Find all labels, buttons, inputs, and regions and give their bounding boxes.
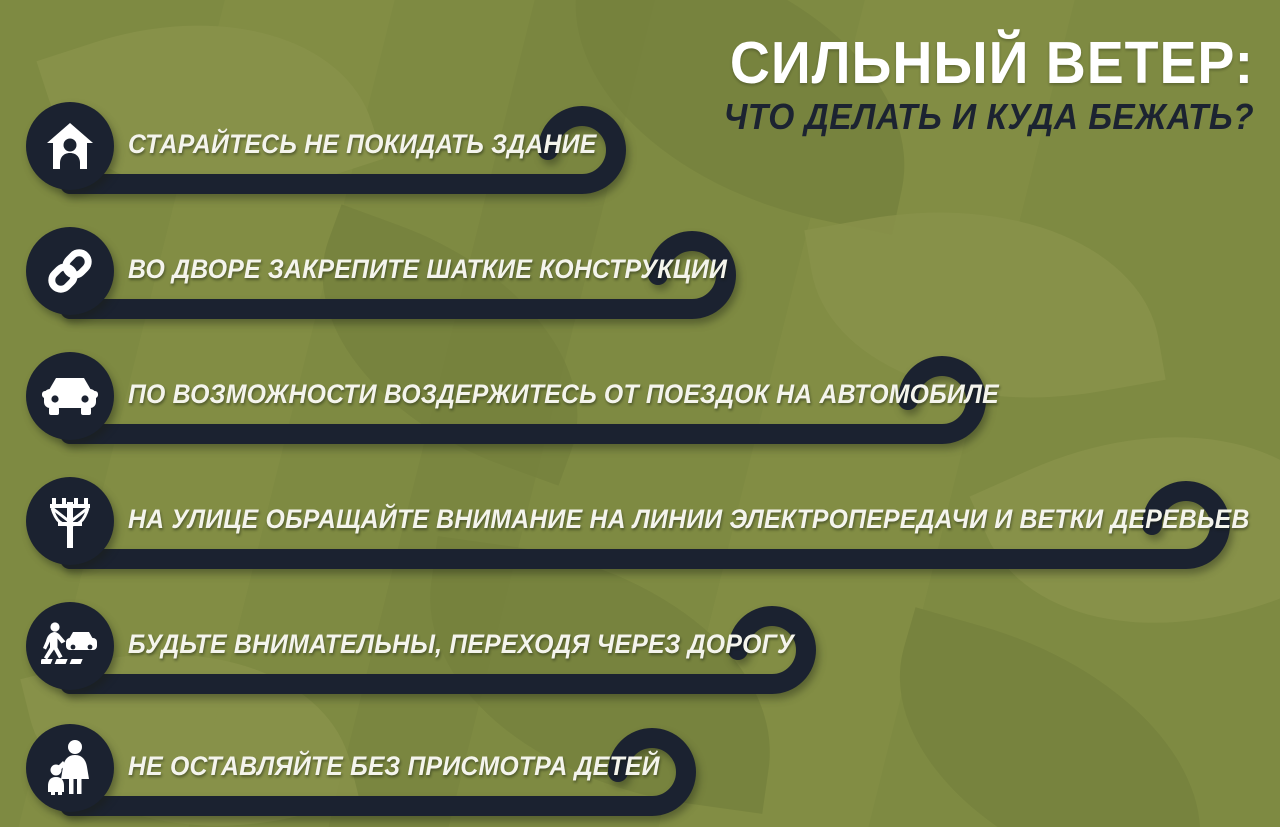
- icon-badge: [26, 602, 114, 690]
- list-item: НЕ ОСТАВЛЯЙТЕ БЕЗ ПРИСМОТРА ДЕТЕЙ: [26, 722, 746, 826]
- icon-badge: [26, 724, 114, 812]
- advice-list: СТАРАЙТЕСЬ НЕ ПОКИДАТЬ ЗДАНИЕ ВО ДВОРЕ З…: [0, 0, 1280, 827]
- list-item: БУДЬТЕ ВНИМАТЕЛЬНЫ, ПЕРЕХОДЯ ЧЕРЕЗ ДОРОГ…: [26, 600, 866, 704]
- car-front-icon: [42, 374, 98, 418]
- icon-badge: [26, 227, 114, 315]
- icon-badge: [26, 352, 114, 440]
- list-item: НА УЛИЦЕ ОБРАЩАЙТЕ ВНИМАНИЕ НА ЛИНИИ ЭЛЕ…: [26, 475, 1266, 579]
- list-item-label: НЕ ОСТАВЛЯЙТЕ БЕЗ ПРИСМОТРА ДЕТЕЙ: [128, 740, 660, 792]
- adult-child-icon: [45, 739, 95, 797]
- house-person-icon: [43, 119, 97, 173]
- list-item-label: ПО ВОЗМОЖНОСТИ ВОЗДЕРЖИТЕСЬ ОТ ПОЕЗДОК Н…: [128, 368, 999, 420]
- list-item: ВО ДВОРЕ ЗАКРЕПИТЕ ШАТКИЕ КОНСТРУКЦИИ: [26, 225, 786, 329]
- chain-link-icon: [44, 245, 96, 297]
- infographic-poster: СИЛЬНЫЙ ВЕТЕР: ЧТО ДЕЛАТЬ И КУДА БЕЖАТЬ?…: [0, 0, 1280, 827]
- list-item-label: БУДЬТЕ ВНИМАТЕЛЬНЫ, ПЕРЕХОДЯ ЧЕРЕЗ ДОРОГ…: [128, 618, 794, 670]
- icon-badge: [26, 102, 114, 190]
- pedestrian-crossing-icon: [41, 621, 99, 671]
- icon-badge: [26, 477, 114, 565]
- list-item: ПО ВОЗМОЖНОСТИ ВОЗДЕРЖИТЕСЬ ОТ ПОЕЗДОК Н…: [26, 350, 1036, 454]
- list-item-label: ВО ДВОРЕ ЗАКРЕПИТЕ ШАТКИЕ КОНСТРУКЦИИ: [128, 243, 727, 295]
- list-item-label: СТАРАЙТЕСЬ НЕ ПОКИДАТЬ ЗДАНИЕ: [128, 118, 596, 170]
- list-item-label: НА УЛИЦЕ ОБРАЩАЙТЕ ВНИМАНИЕ НА ЛИНИИ ЭЛЕ…: [128, 493, 1250, 545]
- list-item: СТАРАЙТЕСЬ НЕ ПОКИДАТЬ ЗДАНИЕ: [26, 100, 676, 204]
- power-line-pole-icon: [42, 492, 98, 550]
